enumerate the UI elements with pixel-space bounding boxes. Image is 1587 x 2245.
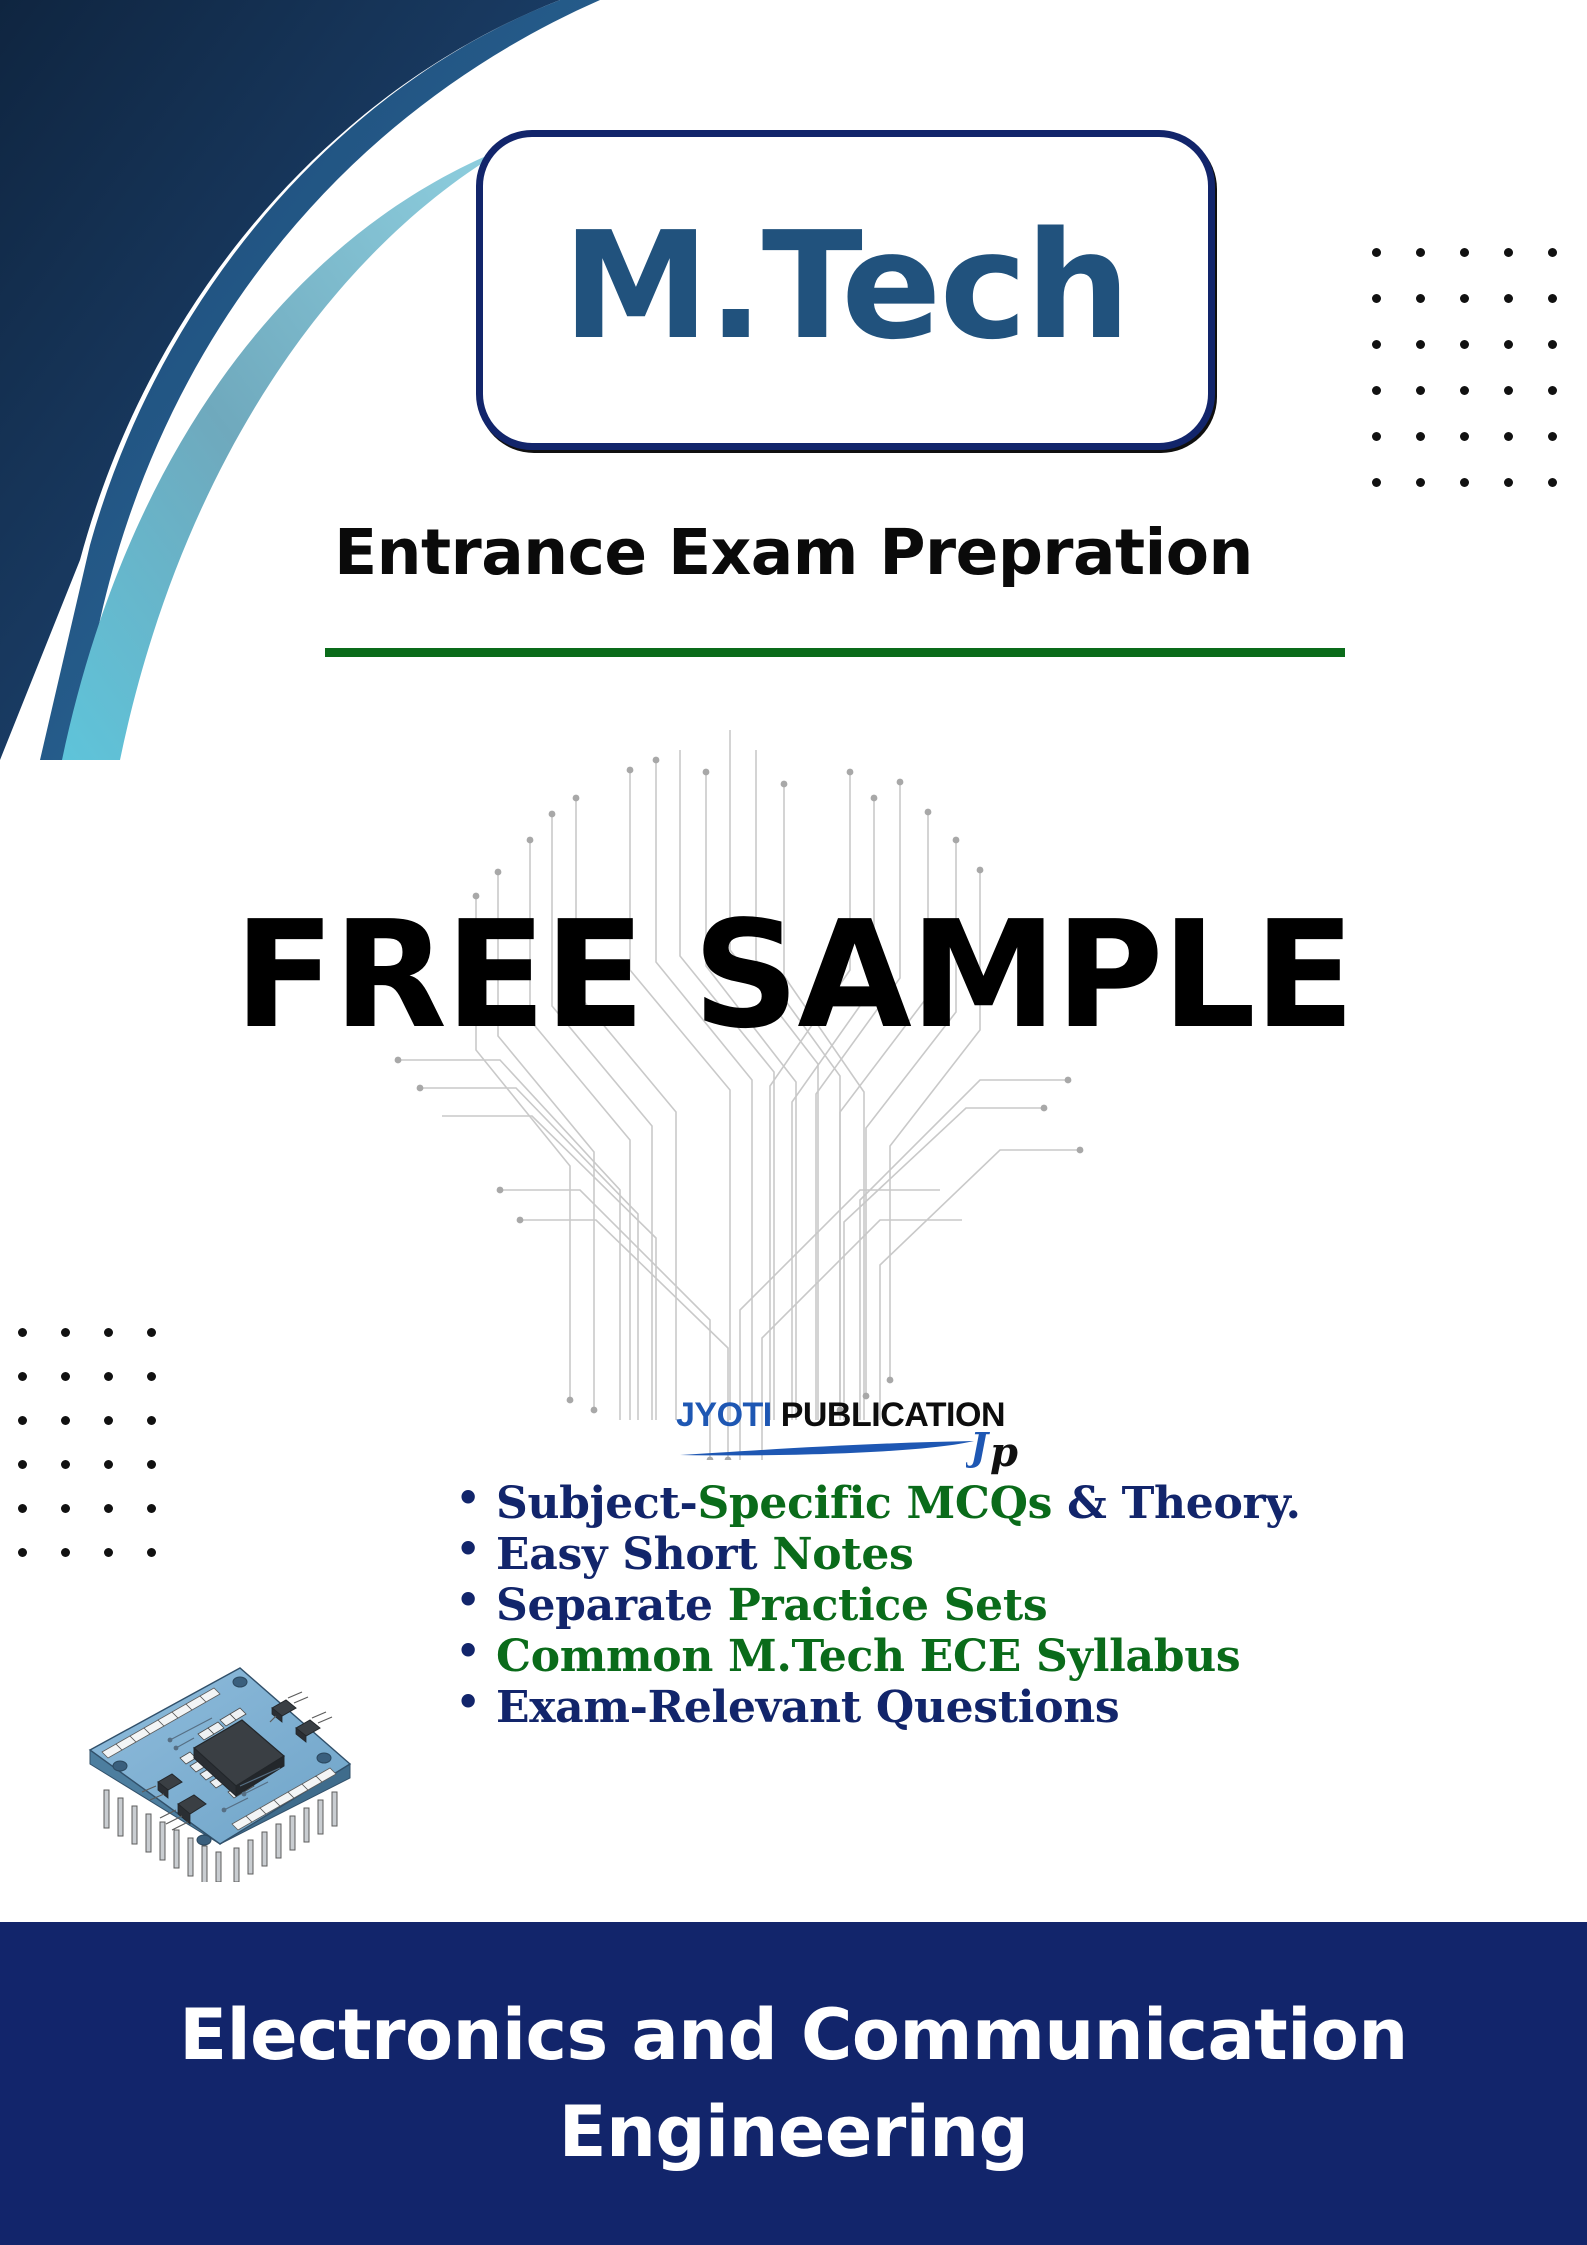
grid-dot [18,1548,27,1557]
logo-monogram-jp-icon: J p [966,1420,1036,1482]
grid-dot [1548,432,1557,441]
grid-dot [18,1460,27,1469]
grid-dot [1548,294,1557,303]
grid-dot [1548,386,1557,395]
list-item: Common M.Tech ECE Syllabus [452,1631,1272,1682]
grid-dot [1416,432,1425,441]
grid-dot [1548,340,1557,349]
grid-dot [1372,340,1381,349]
grid-dot [1372,248,1381,257]
feature-list: Subject-Specific MCQs & Theory. Easy Sho… [452,1478,1272,1733]
grid-dot [147,1504,156,1513]
integrated-circuit-chip-icon [72,1652,362,1882]
grid-dot [1460,294,1469,303]
grid-dot [1548,478,1557,487]
grid-dot [1416,386,1425,395]
grid-dot [104,1372,113,1381]
grid-dot [1372,478,1381,487]
grid-dot [18,1328,27,1337]
logo-swoosh-icon [678,1440,978,1458]
grid-dot [1372,432,1381,441]
feature-segment-2: Common M.Tech ECE Syllabus [496,1631,1240,1682]
book-cover: M.Tech Entrance Exam Prepration FREE SAM… [0,0,1587,2245]
banner-line-1: Electronics and Communication [179,1987,1407,2084]
grid-dot [1504,432,1513,441]
cover-subtitle: Entrance Exam Prepration [0,516,1587,589]
grid-dot [147,1548,156,1557]
dot-grid-bottom-left [18,1328,158,1558]
grid-dot [61,1328,70,1337]
feature-segment-2: Specific MCQs [697,1478,1052,1529]
grid-dot [61,1548,70,1557]
svg-text:p: p [990,1429,1018,1476]
feature-segment-1: Separate [496,1580,728,1631]
grid-dot [1416,294,1425,303]
grid-dot [147,1416,156,1425]
feature-segment-1: Easy Short [496,1529,772,1580]
grid-dot [147,1460,156,1469]
circuit-trace-background [380,720,1100,1460]
grid-dot [1372,386,1381,395]
free-sample-headline: FREE SAMPLE [0,898,1587,1053]
grid-dot [18,1372,27,1381]
list-item: Exam-Relevant Questions [452,1682,1272,1733]
grid-dot [104,1328,113,1337]
bottom-banner: Electronics and Communication Engineerin… [0,1922,1587,2245]
feature-segment-1: Subject- [496,1478,697,1529]
list-item: Separate Practice Sets [452,1580,1272,1631]
grid-dot [1504,386,1513,395]
grid-dot [1460,248,1469,257]
feature-segment-2: Practice Sets [728,1580,1048,1631]
publisher-logo: JYOTI PUBLICATION J p [676,1398,1066,1488]
mtech-badge: M.Tech [476,130,1215,450]
list-item: Easy Short Notes [452,1529,1272,1580]
grid-dot [1416,340,1425,349]
grid-dot [1504,294,1513,303]
grid-dot [1504,478,1513,487]
banner-line-2: Engineering [559,2084,1029,2181]
grid-dot [61,1504,70,1513]
grid-dot [104,1504,113,1513]
grid-dot [18,1416,27,1425]
grid-dot [1460,386,1469,395]
grid-dot [1504,340,1513,349]
grid-dot [147,1328,156,1337]
grid-dot [18,1504,27,1513]
publisher-name-primary: JYOTI [676,1396,772,1434]
green-divider [325,648,1345,657]
grid-dot [61,1460,70,1469]
grid-dot [1548,248,1557,257]
grid-dot [104,1548,113,1557]
page-title: M.Tech [562,212,1128,368]
grid-dot [1372,294,1381,303]
grid-dot [1416,248,1425,257]
dot-grid-top-right [1372,248,1562,508]
list-item: Subject-Specific MCQs & Theory. [452,1478,1272,1529]
grid-dot [61,1372,70,1381]
grid-dot [1460,432,1469,441]
grid-dot [104,1460,113,1469]
grid-dot [1504,248,1513,257]
grid-dot [1460,478,1469,487]
feature-segment-3: & Theory. [1052,1478,1300,1529]
feature-segment-2: Notes [772,1529,913,1580]
feature-segment-1: Exam-Relevant Questions [496,1682,1119,1733]
grid-dot [61,1416,70,1425]
grid-dot [1416,478,1425,487]
grid-dot [104,1416,113,1425]
grid-dot [1460,340,1469,349]
grid-dot [147,1372,156,1381]
svg-text:J: J [966,1424,991,1469]
